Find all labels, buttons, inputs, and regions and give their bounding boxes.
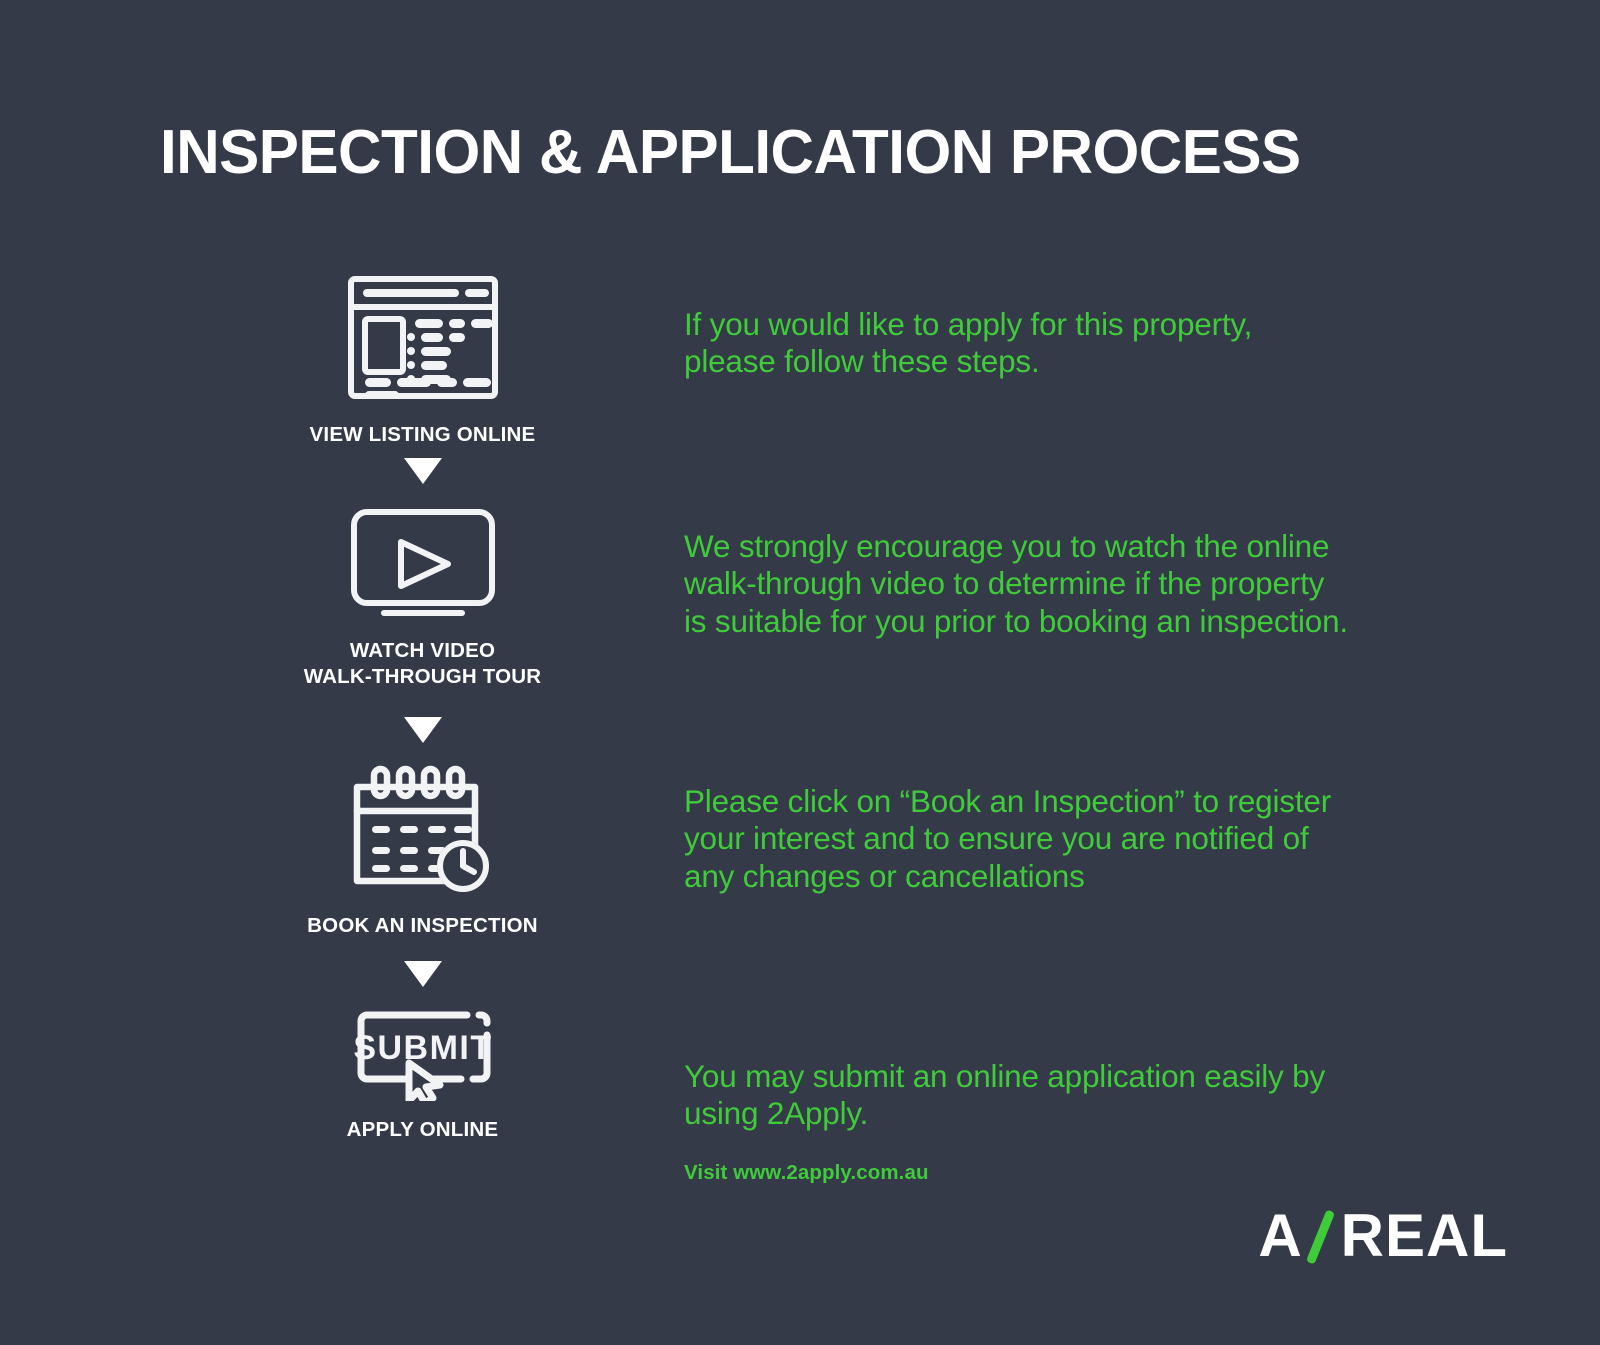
step-label-apply-online: APPLY ONLINE	[250, 1117, 595, 1143]
flow-arrow-2	[250, 717, 595, 743]
paragraph-watch-video: We strongly encourage you to watch the o…	[684, 528, 1474, 640]
calendar-clock-icon	[250, 753, 595, 903]
step-label-watch-video: WATCH VIDEO WALK-THROUGH TOUR	[250, 638, 595, 690]
triangle-down-icon	[404, 961, 442, 987]
paragraph-intro: If you would like to apply for this prop…	[684, 306, 1444, 381]
listing-window-icon	[250, 262, 595, 412]
submit-button-cursor-icon: SUBMIT	[250, 999, 595, 1107]
process-step-apply-online: SUBMIT APPLY ONLINE	[250, 999, 595, 1143]
triangle-down-icon	[404, 717, 442, 743]
flow-arrow-3	[250, 961, 595, 987]
paragraph-book-inspection: Please click on “Book an Inspection” to …	[684, 783, 1444, 895]
page-title: INSPECTION & APPLICATION PROCESS	[160, 122, 1421, 184]
infographic-page: INSPECTION & APPLICATION PROCESS	[0, 0, 1600, 1345]
step-label-book-inspection: BOOK AN INSPECTION	[250, 913, 595, 939]
paragraph-apply-online: You may submit an online application eas…	[684, 1058, 1444, 1133]
step-label-view-listing: VIEW LISTING ONLINE	[250, 422, 595, 448]
process-step-book-inspection: BOOK AN INSPECTION	[250, 753, 595, 939]
brand-logo: A REAL	[1258, 1205, 1508, 1267]
triangle-down-icon	[404, 458, 442, 484]
process-step-watch-video: WATCH VIDEO WALK-THROUGH TOUR	[250, 498, 595, 690]
flow-arrow-1	[250, 458, 595, 484]
process-step-column: VIEW LISTING ONLINE WATCH VIDEO WALK-THR…	[250, 262, 595, 1143]
visit-website-link[interactable]: Visit www.2apply.com.au	[684, 1161, 929, 1185]
video-play-monitor-icon	[250, 498, 595, 628]
slash-icon	[1305, 1207, 1339, 1265]
logo-word-real: REAL	[1341, 1206, 1508, 1266]
logo-letter-a: A	[1258, 1206, 1302, 1266]
process-step-view-listing: VIEW LISTING ONLINE	[250, 262, 595, 448]
submit-icon-text: SUBMIT	[353, 1029, 492, 1067]
